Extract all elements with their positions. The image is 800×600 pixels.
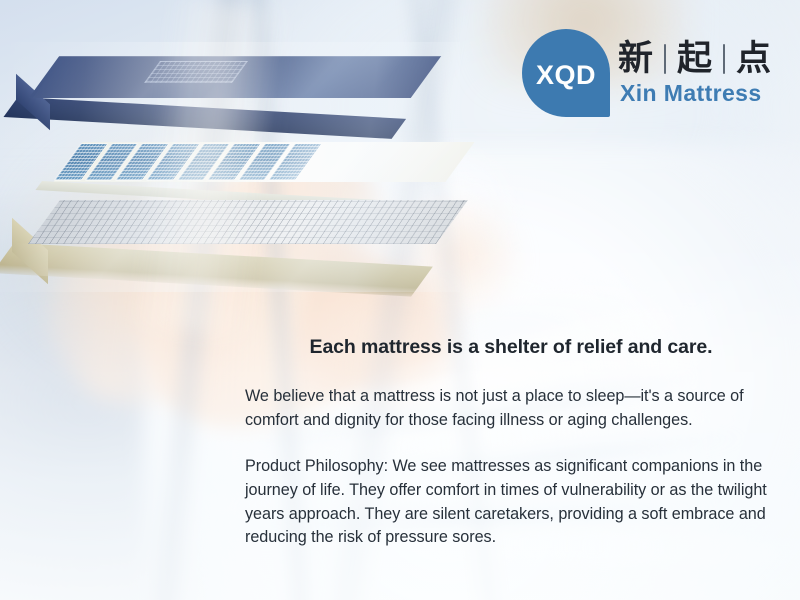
brand-chinese-char-1: 新	[618, 39, 653, 79]
copy-block: Each mattress is a shelter of relief and…	[245, 336, 777, 550]
body-paragraph-1: We believe that a mattress is not just a…	[245, 385, 777, 433]
mattress-top-cover-layer	[14, 56, 426, 138]
mattress-foam-base-layer	[12, 200, 458, 296]
body-paragraph-2: Product Philosophy: We see mattresses as…	[245, 455, 777, 550]
logo-divider-bar	[664, 44, 666, 74]
foam-base-gloss	[0, 243, 433, 297]
top-cover-print-label	[144, 61, 248, 83]
exploded-mattress-diagram	[0, 42, 460, 292]
headline: Each mattress is a shelter of relief and…	[245, 336, 777, 359]
brand-chinese-char-3: 点	[736, 39, 771, 79]
logo-divider-bar	[723, 44, 725, 74]
brand-logo[interactable]: XQD 新起点 Xin Mattress	[522, 26, 774, 118]
mattress-air-cell-layer	[40, 142, 460, 208]
xqd-logo-text: XQD	[536, 60, 596, 91]
air-cell-gloss	[53, 142, 474, 182]
top-cover-front-face	[3, 97, 406, 139]
foam-base-grid-top	[28, 200, 468, 244]
xqd-logo-mark-icon: XQD	[522, 29, 610, 117]
brand-chinese-char-2: 起	[677, 39, 712, 79]
brand-english-name: Xin Mattress	[620, 80, 762, 107]
brand-chinese-name: 新起点	[618, 30, 771, 81]
promotional-banner: XQD 新起点 Xin Mattress Each mattress is a …	[0, 0, 800, 600]
